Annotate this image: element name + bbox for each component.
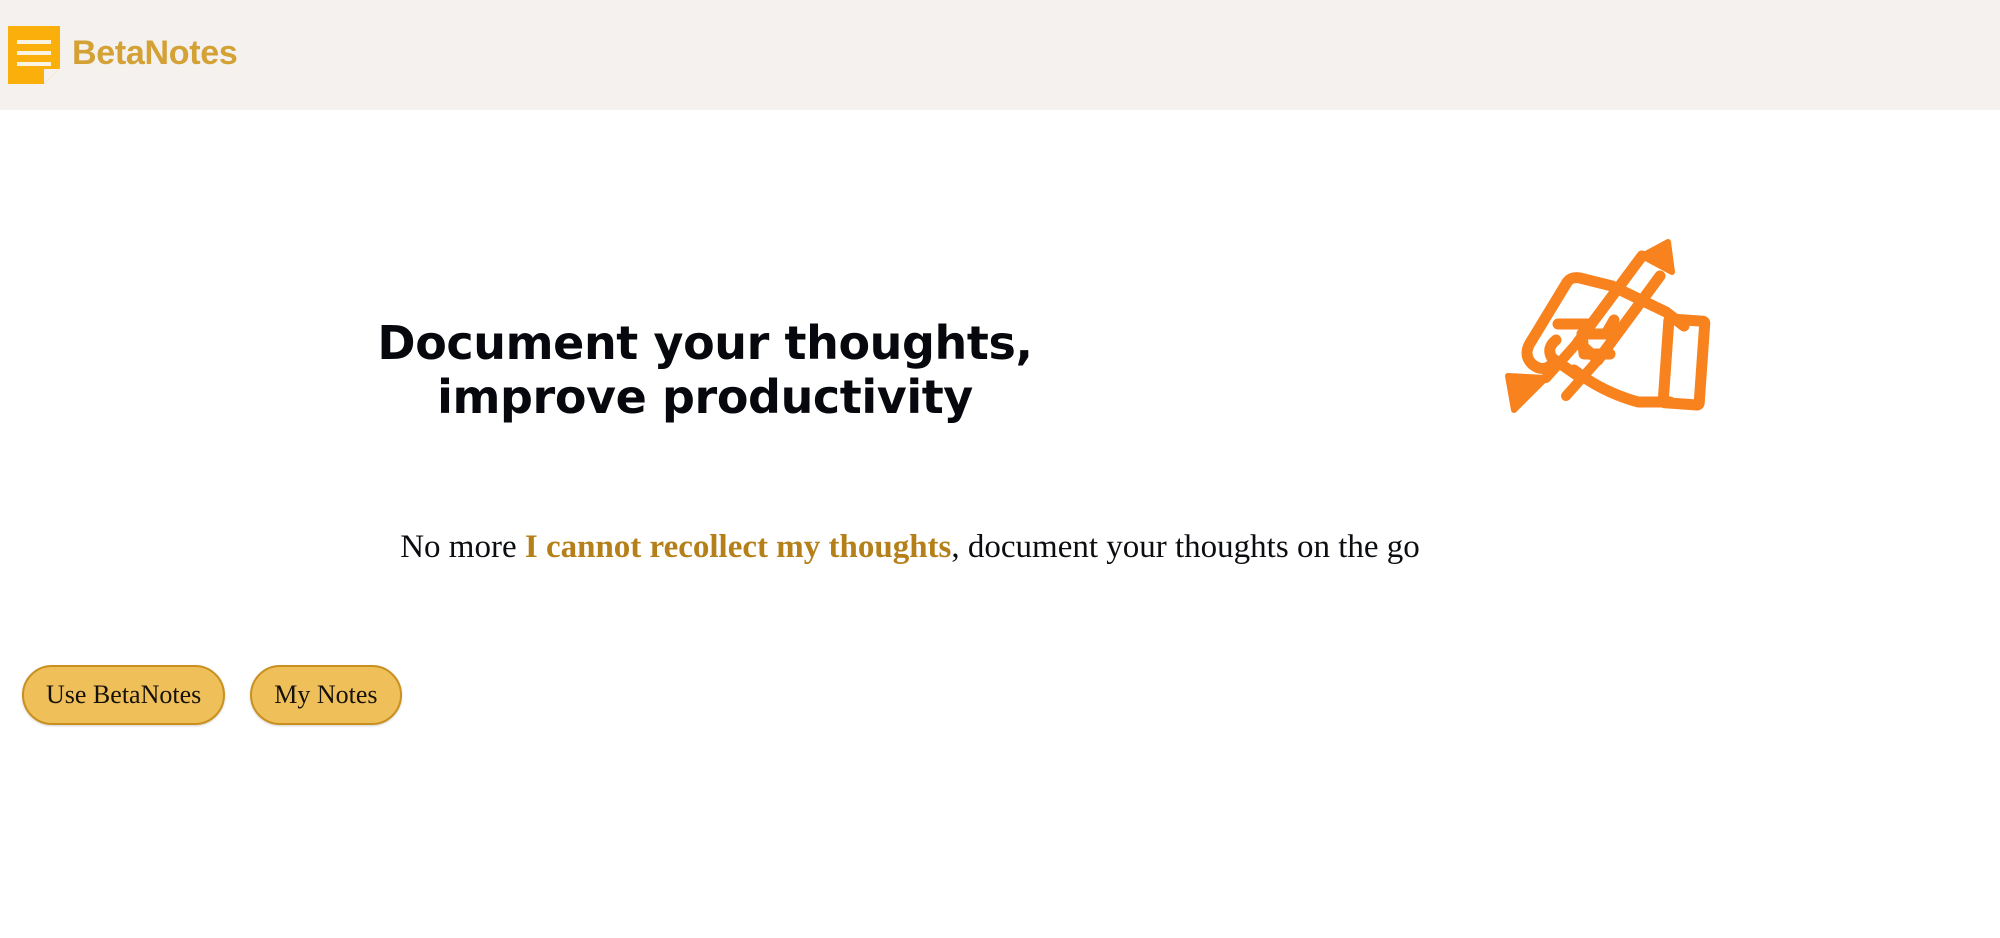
subtitle-tail: , document your thoughts on the go	[951, 529, 1419, 565]
subtitle-accent: I cannot recollect my thoughts	[525, 529, 952, 565]
brand-name: BetaNotes	[72, 36, 237, 74]
note-document-icon	[6, 24, 62, 86]
my-notes-button[interactable]: My Notes	[250, 665, 401, 725]
hand-holding-pencil-icon	[1470, 220, 1720, 435]
hero-subtitle: No more I cannot recollect my thoughts, …	[300, 528, 1520, 568]
hero-section: Document your thoughts, improve producti…	[0, 110, 2000, 938]
page-title: Document your thoughts, improve producti…	[290, 316, 1120, 425]
use-betanotes-button[interactable]: Use BetaNotes	[22, 665, 225, 725]
cta-button-row: Use BetaNotes My Notes	[22, 665, 402, 725]
brand-logo-group[interactable]: BetaNotes	[6, 24, 237, 86]
app-header: BetaNotes	[0, 0, 2000, 110]
subtitle-lead: No more	[400, 529, 525, 565]
